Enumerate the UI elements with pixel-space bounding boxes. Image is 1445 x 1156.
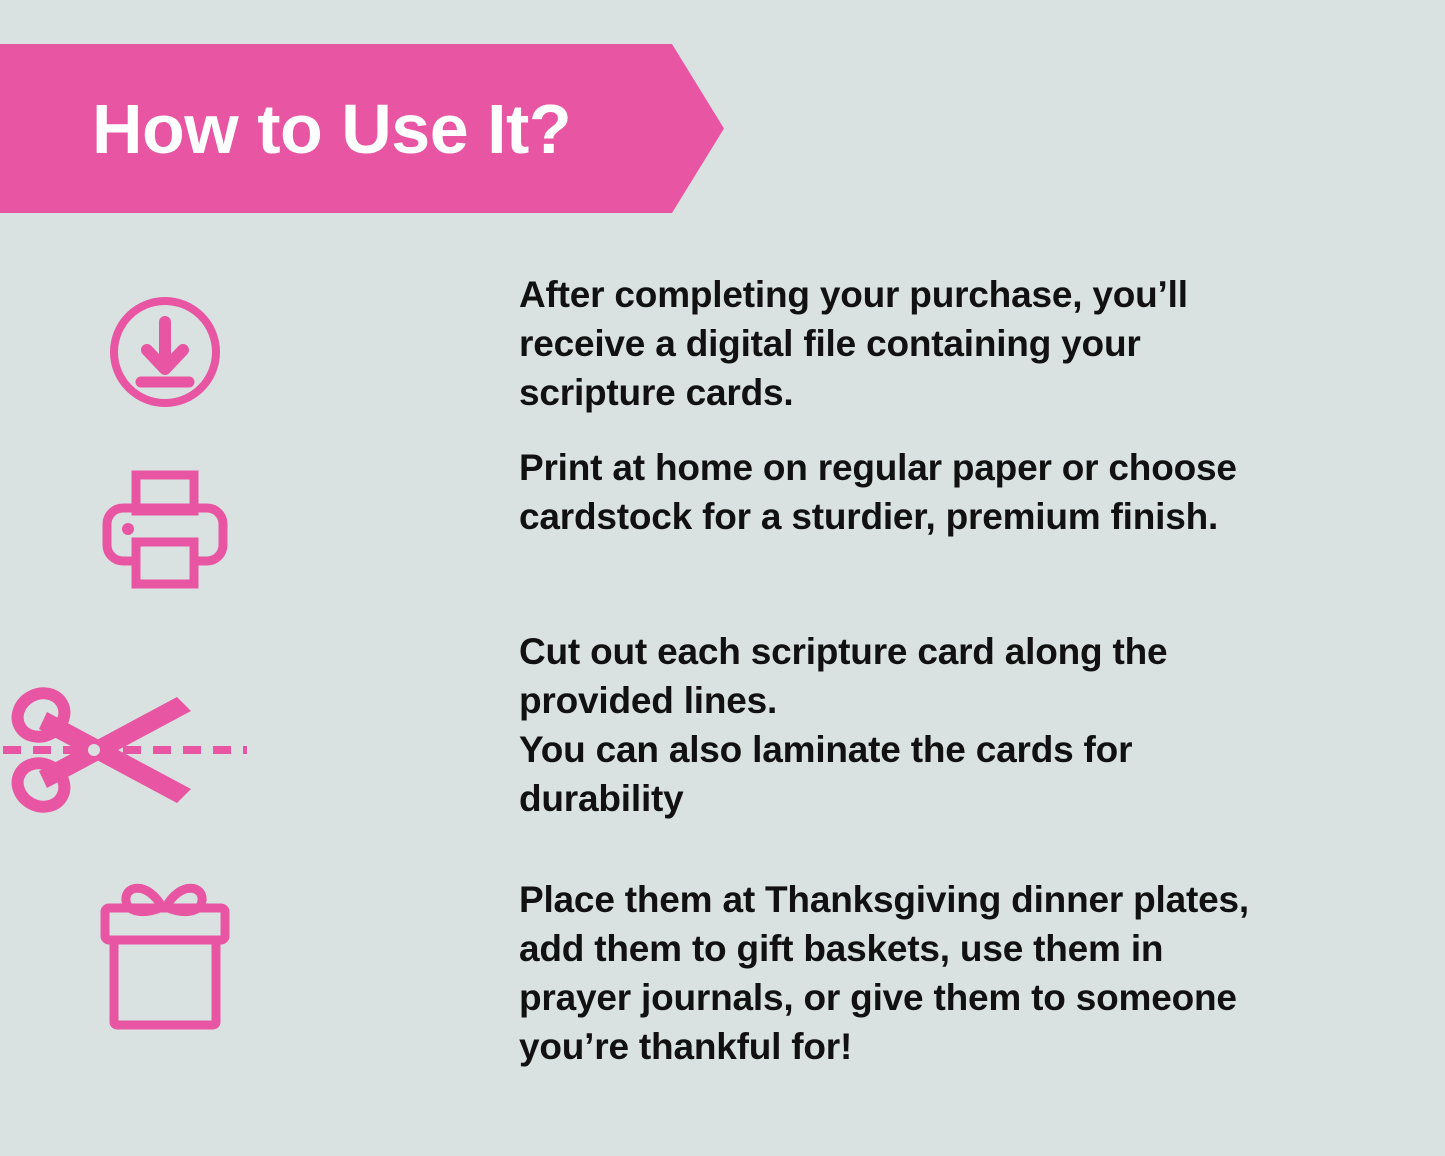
step-text-download: After completing your purchase, you’ll r… [519,270,1249,417]
step-text-print: Print at home on regular paper or choose… [519,443,1249,541]
step-text-cut: Cut out each scripture card along the pr… [519,627,1249,823]
step-text-gift: Place them at Thanksgiving dinner plates… [519,875,1249,1071]
gift-box-icon [0,875,330,1030]
page-title: How to Use It? [92,94,571,164]
download-circle-icon [0,292,330,412]
printer-icon [0,467,330,591]
how-to-use-banner: How to Use It? [0,44,724,213]
scissors-cut-line-icon [0,685,290,815]
